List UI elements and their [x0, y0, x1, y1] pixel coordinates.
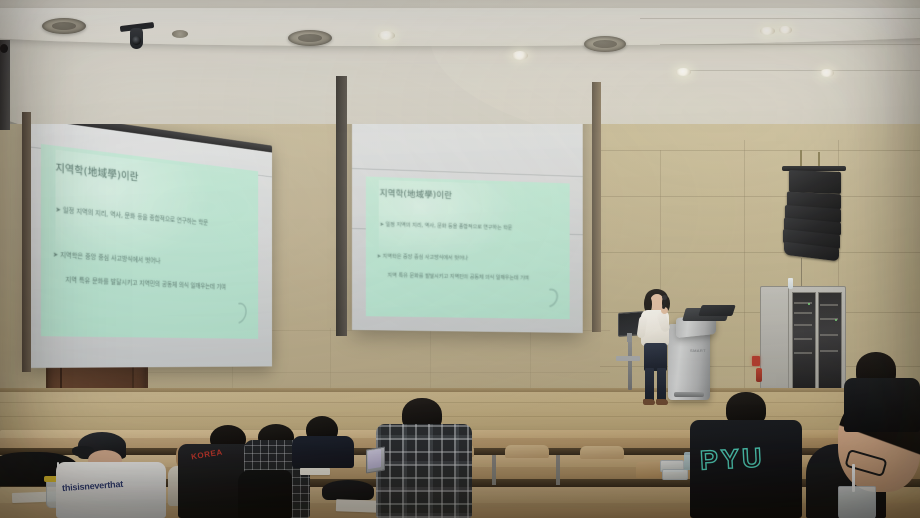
exit-sign	[752, 356, 760, 366]
slide-bullet-3: 지역 특유 문화를 발달시키고 지역민의 공동체 의식 일깨우는데 기여	[388, 272, 530, 282]
microphone-head	[662, 295, 667, 300]
wall-seam	[600, 150, 920, 151]
backpack	[322, 480, 374, 500]
rack-unit	[794, 312, 812, 314]
slide-bullet-2: ➤ 지역학은 중앙 중심 사고방식에서 벗어나	[377, 253, 468, 262]
jacket-graphic-text: PYU	[699, 442, 765, 476]
clear-drink-cup	[838, 486, 876, 518]
lecture-hall-photo: SMART 지역학(地域學)이란 ➤ 일정 지역의	[0, 0, 920, 518]
rack-unit	[820, 350, 838, 352]
bullet-marker-icon: ➤	[377, 254, 381, 260]
fire-extinguisher	[756, 368, 762, 382]
handout-paper	[300, 468, 330, 475]
presenter-leg	[657, 368, 666, 402]
presenter-leg	[645, 368, 654, 402]
presenter-shoe	[643, 399, 655, 405]
ceiling-speaker	[288, 30, 332, 46]
presenter-shoe	[656, 399, 668, 405]
slide-bullet-text: 일정 지역의 지리, 역사, 문화 등을 종합적으로 연구하는 학문	[63, 206, 208, 226]
wall-seam	[744, 140, 745, 400]
floor-plank	[0, 416, 920, 417]
open-laptop[interactable]	[366, 446, 385, 473]
ceiling-speaker	[42, 18, 86, 34]
rack-glass-door	[818, 292, 842, 390]
ceiling-downlight	[676, 68, 691, 76]
ceiling	[0, 0, 920, 124]
wall-seam	[530, 324, 531, 392]
ceiling-downlight	[820, 69, 834, 77]
monitor-base	[616, 356, 640, 361]
rack-unit	[794, 324, 812, 326]
floor-plank	[0, 402, 920, 403]
ceiling-downlight	[779, 26, 792, 34]
left-projection-screen: 지역학(地域學)이란 ➤ 일정 지역의 지리, 역사, 문화 등을 종합적으로 …	[26, 118, 272, 368]
bullet-marker-icon: ➤	[56, 206, 61, 214]
seat-back	[505, 445, 549, 458]
av-equipment-rack	[760, 286, 790, 394]
slide-bullet-text: 지역학은 중앙 중심 사고방식에서 벗어나	[60, 251, 160, 265]
slide-bullet-1: ➤ 일정 지역의 지리, 역사, 문화 등을 종합적으로 연구하는 학문	[56, 205, 209, 228]
rack-glass-door	[792, 292, 816, 390]
slide-bullet-3: 지역 특유 문화를 발달시키고 지역민의 공동체 의식 일깨우는데 기여	[65, 275, 226, 292]
water-bottle	[788, 278, 793, 289]
slide-bullet-text: 지역학은 중앙 중심 사고방식에서 벗어나	[383, 254, 468, 262]
food-container	[662, 469, 688, 480]
student-navy-top	[292, 436, 354, 468]
slide-bullet-text: 지역 특유 문화를 발달시키고 지역민의 공동체 의식 일깨우는데 기여	[388, 273, 530, 282]
wall-seam	[140, 372, 610, 373]
chair[interactable]	[636, 462, 662, 478]
ceiling-speaker	[584, 36, 626, 52]
slide-title: 지역학(地域學)이란	[380, 187, 452, 201]
wall-seam	[330, 328, 331, 392]
screen-side-post	[592, 82, 601, 332]
projected-slide: 지역학(地域學)이란 ➤ 일정 지역의 지리, 역사, 문화 등을 종합적으로 …	[41, 144, 258, 339]
screen-side-post	[22, 112, 31, 372]
desk-leg	[556, 455, 560, 485]
ceiling-downlight	[760, 27, 775, 35]
drinking-straw	[852, 464, 855, 492]
ceiling-downlight	[512, 51, 528, 60]
handout-paper	[336, 499, 380, 513]
presenter-pants	[644, 343, 667, 371]
ceiling-fixture	[0, 44, 8, 53]
screen-surface: 지역학(地域學)이란 ➤ 일정 지역의 지리, 역사, 문화 등을 종합적으로 …	[26, 118, 272, 368]
line-array-speaker	[789, 170, 841, 194]
ceiling-vent	[172, 30, 188, 38]
ceiling-post	[0, 40, 10, 130]
rack-unit	[820, 334, 838, 336]
seat-back	[580, 446, 624, 459]
bullet-marker-icon: ➤	[380, 222, 384, 228]
lectern-brand: SMART	[690, 348, 706, 353]
slide-bullet-2: ➤ 지역학은 중앙 중심 사고방식에서 벗어나	[53, 250, 161, 266]
rack-unit	[820, 304, 838, 306]
rack-status-led	[835, 319, 837, 321]
desk-leg	[492, 455, 496, 485]
slide-bullet-text: 일정 지역의 지리, 역사, 문화 등을 종합적으로 연구하는 학문	[386, 222, 513, 231]
podium-monitor	[698, 305, 736, 316]
wall-seam	[600, 196, 920, 197]
ceiling-downlight	[378, 31, 395, 40]
rack-unit	[794, 338, 812, 340]
rack-unit	[794, 352, 812, 354]
slide-bullet-1: ➤ 일정 지역의 지리, 역사, 문화 등을 종합적으로 연구하는 학문	[380, 221, 513, 232]
screen-divider-post	[336, 76, 347, 336]
laptop-screen	[368, 449, 381, 469]
wall-seam	[600, 252, 920, 253]
wall-seam	[430, 326, 431, 392]
bullet-marker-icon: ➤	[53, 251, 58, 259]
student-dark-top	[844, 378, 920, 432]
slide-decoration-icon	[227, 299, 250, 328]
projected-slide: 지역학(地域學)이란 ➤ 일정 지역의 지리, 역사, 문화 등을 종합적으로 …	[366, 176, 570, 319]
student-plaid-shirt	[376, 424, 472, 518]
slide-bullet-text: 지역 특유 문화를 발달시키고 지역민의 공동체 의식 일깨우는데 기여	[65, 276, 226, 291]
slide-title: 지역학(地域學)이란	[56, 159, 139, 184]
monitor-stand	[627, 333, 632, 342]
lectern-foot	[674, 392, 704, 397]
student-dark-overlay	[238, 470, 292, 518]
camera-lens-icon	[132, 36, 141, 45]
slide-decoration-icon	[537, 285, 561, 311]
rack-status-led	[808, 303, 810, 305]
